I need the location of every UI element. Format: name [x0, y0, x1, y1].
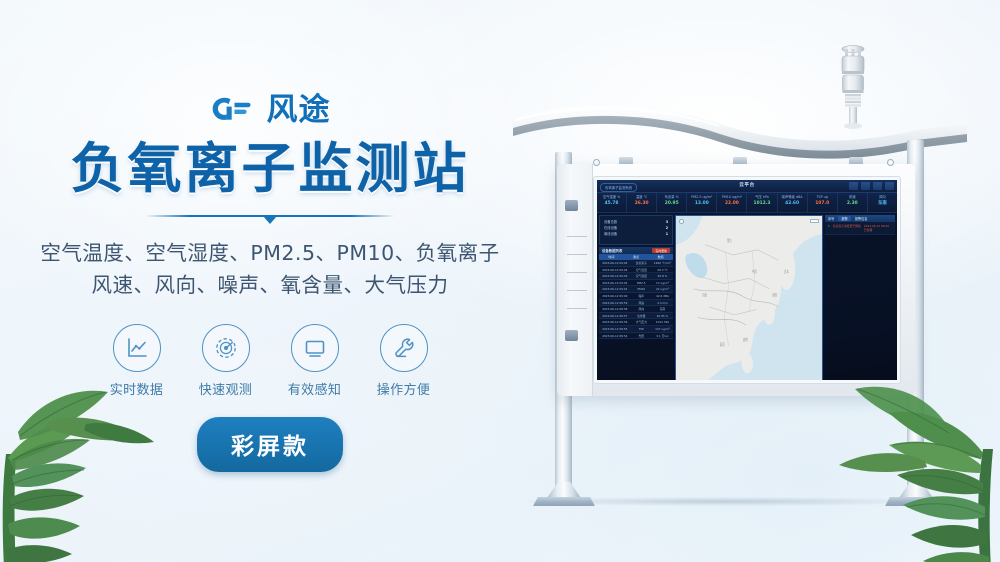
dashboard-alert-panel: 序号 报警 报警信息 1 负氧离子浓度低于阈值 2023-06-12 08:40…: [825, 213, 897, 380]
radar-scan-icon: [213, 335, 239, 361]
alert-panel-header: 序号 报警 报警信息: [825, 215, 895, 222]
metric-value: 1012.3: [747, 200, 776, 207]
monitor-screen-icon: [302, 335, 328, 361]
metric-card[interactable]: 风向 东南: [868, 193, 897, 212]
cell-point: PM2.5: [631, 280, 652, 286]
cell-point: 空气温度: [631, 267, 652, 273]
cell-time: 2023-06-12 09:03: [599, 273, 631, 279]
cell-time: 2023-06-12 08:55: [599, 326, 631, 332]
decorative-plant-left: [0, 358, 180, 562]
alert-row[interactable]: 1 负氧离子浓度低于阈值 2023-06-12 08:40 已处理: [825, 222, 895, 235]
cell-time: 2023-06-12 08:59: [599, 300, 631, 306]
cell-point: 氧含量: [631, 313, 652, 319]
feature-icon-frame: [291, 324, 339, 372]
metric-card[interactable]: 温度 ℃ 26.30: [627, 193, 657, 212]
cell-value: 20.95 %: [652, 313, 673, 319]
feature-label: 有效感知: [284, 379, 346, 398]
metric-card[interactable]: 噪声等级 dBA 42.60: [778, 193, 808, 212]
banana-leaf-plant-icon: [0, 358, 180, 562]
vent-slot: [567, 254, 587, 255]
housing-hinge-panel: [557, 164, 593, 396]
metric-value: 22.00: [717, 200, 746, 207]
feature-label: 快速观测: [195, 379, 257, 398]
svg-text:印度: 印度: [702, 292, 707, 298]
alert-col-tag: 报警: [838, 216, 850, 221]
table-row[interactable]: 2023-06-12 08:58 风向 东南: [599, 306, 673, 313]
feature-item-effective-sensing[interactable]: 有效感知: [284, 324, 346, 398]
cell-time: 2023-06-12 08:57: [599, 313, 631, 319]
table-row[interactable]: 2023-06-12 09:04 空气温度 26.3 ℃: [599, 267, 673, 274]
cell-point: PM10: [631, 286, 652, 292]
svg-text:日本: 日本: [784, 268, 789, 274]
table-row[interactable]: 2023-06-12 08:57 氧含量 20.95 %: [599, 313, 673, 320]
alert-col-index: 序号: [828, 216, 834, 221]
alert-index: 1: [828, 224, 830, 232]
table-row[interactable]: 2023-06-12 08:54 光照 3.1 万lux: [599, 333, 673, 340]
cell-time: 2023-06-12 09:01: [599, 286, 631, 292]
cell-time: 2023-06-12 09:05: [599, 260, 631, 266]
svg-text:泰国: 泰国: [720, 341, 725, 347]
subtitle-line-2: 风速、风向、噪声、氧含量、大气压力: [0, 270, 540, 302]
cell-value: 1012 hPa: [652, 319, 673, 325]
metric-card[interactable]: PM2.5 ug/m³ 13.00: [687, 193, 717, 212]
housing-mount-tab: [733, 157, 747, 164]
table-title: 设备数据列表: [602, 248, 622, 253]
svg-text:越南: 越南: [743, 336, 748, 342]
cell-time: 2023-06-12 09:04: [599, 267, 631, 273]
cell-point: 空气湿度: [631, 273, 652, 279]
ultrasonic-weather-sensor-icon: [831, 40, 875, 132]
table-row[interactable]: 2023-06-12 09:00 噪声 42.6 dBA: [599, 293, 673, 300]
dashboard-title: 云平台: [739, 182, 755, 188]
table-row[interactable]: 2023-06-12 09:03 空气湿度 45.8 %: [599, 273, 673, 280]
cell-value: 42.6 dBA: [652, 293, 673, 299]
cell-point: 风向: [631, 306, 652, 312]
metric-value: 20.95: [657, 200, 686, 207]
kiosk-foot-left: [533, 484, 595, 506]
housing-mount-tab: [619, 157, 633, 164]
cell-value: 东南: [652, 306, 673, 312]
stat-label: 离线设备: [604, 231, 617, 237]
data-table-header: 设备数据列表 实时更新: [599, 247, 673, 254]
svg-text:韩国: 韩国: [772, 292, 777, 298]
metric-value: 45.78: [597, 200, 626, 207]
data-table-body: 2023-06-12 09:05 负氧离子 1260 个/cm³ 2023-06…: [599, 260, 673, 339]
subtitle-line-1: 空气温度、空气湿度、PM2.5、PM10、负氧离子: [0, 238, 540, 270]
wrench-icon: [391, 335, 417, 361]
hinge-upper: [565, 200, 578, 211]
table-row[interactable]: 2023-06-12 09:01 PM10 22 ug/m³: [599, 286, 673, 293]
cell-time: 2023-06-12 08:56: [599, 319, 631, 325]
metric-value: 107.0: [808, 200, 837, 207]
vent-slot: [567, 236, 587, 237]
divider-triangle-icon: [263, 216, 277, 224]
housing-mount-tab: [849, 157, 863, 164]
metric-card[interactable]: PM10 ug/m³ 22.00: [717, 193, 747, 212]
table-row[interactable]: 2023-06-12 08:59 风速 2.3 m/s: [599, 300, 673, 307]
dashboard-screen[interactable]: 负氧离子监测系统 云平台 空气湿度 % 45.78: [597, 180, 897, 380]
toolbar-icon-3[interactable]: [873, 182, 882, 190]
table-row[interactable]: 2023-06-12 09:05 负氧离子 1260 个/cm³: [599, 260, 673, 267]
metric-card[interactable]: 氧含量 % 20.95: [657, 193, 687, 212]
housing-mount-ring: [887, 159, 894, 166]
toolbar-icon-2[interactable]: [861, 182, 870, 190]
foot-flare: [547, 482, 581, 498]
cell-point: TSP: [631, 326, 652, 332]
feature-label: 操作方便: [373, 379, 435, 398]
display-housing: 负氧离子监测系统 云平台 空气湿度 % 45.78: [557, 164, 915, 396]
table-status-badge: 实时更新: [652, 248, 670, 253]
hinge-lower: [565, 330, 578, 341]
vent-slot: [567, 308, 587, 309]
cell-time: 2023-06-12 08:54: [599, 333, 631, 339]
cell-value: 26.3 ℃: [652, 267, 673, 273]
cell-value: 2.3 m/s: [652, 300, 673, 306]
cell-value: 1260 个/cm³: [652, 260, 673, 266]
cell-point: 大气压力: [631, 319, 652, 325]
dashboard-map-panel: 蒙古 中国 日本 印度 越南 泰国 韩国: [675, 213, 825, 380]
feature-item-fast-observation[interactable]: 快速观测: [195, 324, 257, 398]
table-row[interactable]: 2023-06-12 08:56 大气压力 1012 hPa: [599, 319, 673, 326]
toolbar-icon-4[interactable]: [885, 182, 894, 190]
svg-text:蒙古: 蒙古: [727, 237, 732, 243]
feature-icon-frame: [202, 324, 250, 372]
cell-time: 2023-06-12 09:00: [599, 293, 631, 299]
dashboard-topbar: 负氧离子监测系统 云平台: [597, 180, 897, 193]
toolbar-icon-1[interactable]: [849, 182, 858, 190]
metric-card[interactable]: 风速 2.30: [838, 193, 868, 212]
housing-mount-ring: [593, 159, 600, 166]
metric-value: 26.30: [627, 200, 656, 207]
color-screen-model-button[interactable]: 彩屏款: [197, 417, 343, 472]
cell-point: 光照: [631, 333, 652, 339]
table-row[interactable]: 2023-06-12 08:55 TSP 107 ug/m³: [599, 326, 673, 333]
feature-icon-frame: [380, 324, 428, 372]
metric-card[interactable]: 气压 hPa 1012.3: [747, 193, 777, 212]
line-chart-icon: [124, 335, 150, 361]
metric-value: 13.00: [687, 200, 716, 207]
cell-value: 22 ug/m³: [652, 286, 673, 292]
foot-plate: [533, 497, 595, 506]
feature-item-easy-operation[interactable]: 操作方便: [373, 324, 435, 398]
cell-point: 噪声: [631, 293, 652, 299]
brand-name: 风途: [267, 95, 331, 126]
alert-col-title: 报警信息: [855, 216, 868, 221]
dashboard-body: 设备总数 3 在线设备 2 离线设备 1: [597, 213, 897, 380]
screen-bezel: 负氧离子监测系统 云平台 空气湿度 % 45.78: [593, 176, 901, 384]
metric-value: 42.60: [778, 200, 807, 207]
page-title: 负氧离子监测站: [0, 140, 540, 198]
stat-row: 离线设备 1: [604, 231, 668, 237]
cell-value: 3.1 万lux: [652, 333, 673, 339]
vent-slot: [567, 290, 587, 291]
hero-subtitle: 空气温度、空气湿度、PM2.5、PM10、负氧离子 风速、风向、噪声、氧含量、大…: [0, 238, 540, 302]
cell-point: 风速: [631, 300, 652, 306]
map-zoom-icon[interactable]: [810, 219, 819, 223]
stat-value: 1: [666, 231, 668, 237]
cell-value: 107 ug/m³: [652, 326, 673, 332]
metric-value: 东南: [868, 200, 897, 207]
map-widget[interactable]: 蒙古 中国 日本 印度 越南 泰国 韩国: [675, 215, 823, 380]
wind-cloud-logo-icon: [210, 93, 258, 127]
metric-strip: 空气湿度 % 45.78 温度 ℃ 26.30 氧含量 % 20.95 PM: [597, 193, 897, 213]
dashboard-toolbar: [849, 182, 894, 190]
east-asia-map: 蒙古 中国 日本 印度 越南 泰国 韩国: [676, 216, 822, 380]
title-divider: [145, 212, 395, 224]
alert-text: 负氧离子浓度低于阈值: [833, 224, 861, 232]
dashboard-left-panel: 设备总数 3 在线设备 2 离线设备 1: [597, 213, 675, 380]
brand-logo: 风途: [0, 88, 540, 132]
alert-extra: 2023-06-12 08:40 已处理: [864, 224, 892, 232]
cell-time: 2023-06-12 08:58: [599, 306, 631, 312]
metric-card[interactable]: 空气湿度 % 45.78: [597, 193, 627, 212]
banana-leaf-plant-icon: [831, 365, 1000, 562]
map-locate-icon[interactable]: [679, 219, 684, 224]
vent-slot: [567, 272, 587, 273]
svg-text:中国: 中国: [752, 268, 757, 274]
page-background: 风途 负氧离子监测站 空气温度、空气湿度、PM2.5、PM10、负氧离子 风速、…: [0, 0, 1000, 562]
device-stats-box: 设备总数 3 在线设备 2 离线设备 1: [599, 215, 673, 245]
dashboard-system-chip[interactable]: 负氧离子监测系统: [600, 183, 637, 192]
cell-value: 13 ug/m³: [652, 280, 673, 286]
cell-time: 2023-06-12 09:02: [599, 280, 631, 286]
metric-value: 2.30: [838, 200, 867, 207]
cell-point: 负氧离子: [631, 260, 652, 266]
table-row[interactable]: 2023-06-12 09:02 PM2.5 13 ug/m³: [599, 280, 673, 287]
decorative-plant-right: [831, 365, 1000, 562]
metric-card[interactable]: TSP ug 107.0: [808, 193, 838, 212]
alert-empty-area: [825, 235, 895, 353]
cell-value: 45.8 %: [652, 273, 673, 279]
